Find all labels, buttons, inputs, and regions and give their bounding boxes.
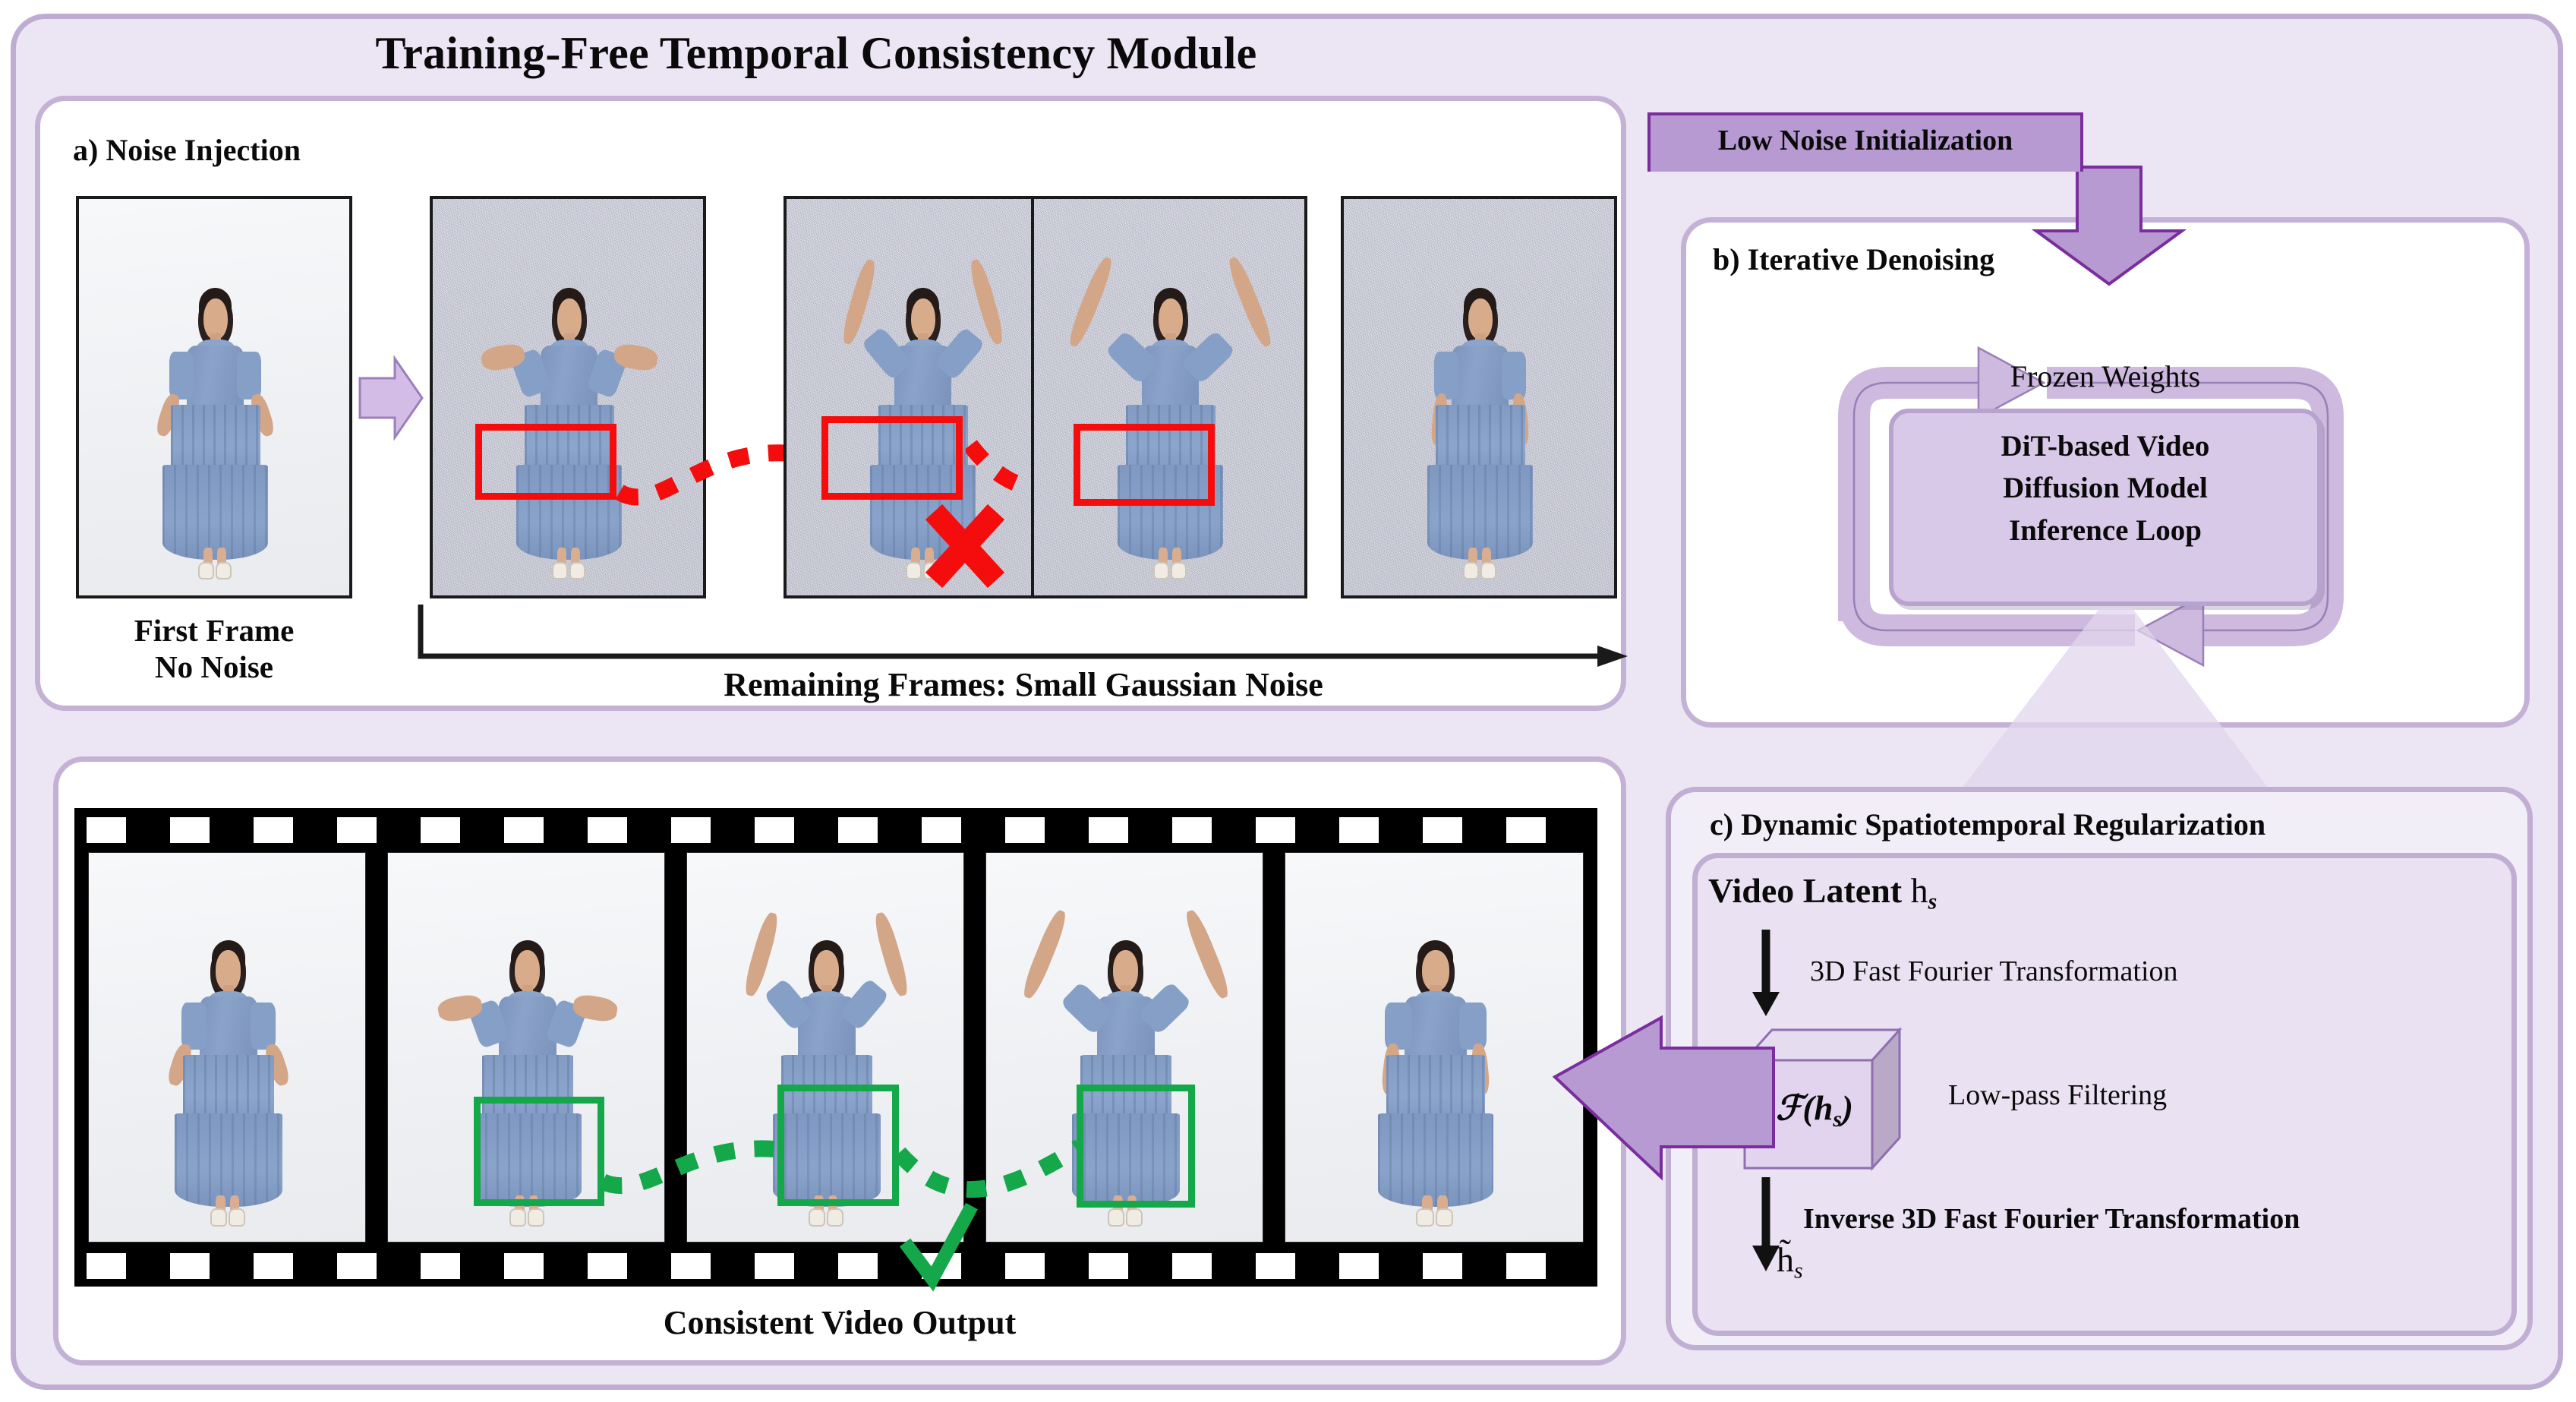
fft-step-label: 3D Fast Fourier Transformation xyxy=(1810,955,2178,988)
highlight-box-good-2 xyxy=(777,1085,899,1206)
panel-b-label: b) Iterative Denoising xyxy=(1713,242,1994,277)
panel-a-label: a) Noise Injection xyxy=(73,132,301,168)
first-frame-image xyxy=(76,196,352,598)
video-latent-text: Video Latent xyxy=(1708,871,1902,910)
output-caption: Consistent Video Output xyxy=(53,1303,1626,1342)
frozen-weights-label: Frozen Weights xyxy=(1681,358,2530,394)
video-latent-subscript: s xyxy=(1928,889,1938,914)
timeline-axis xyxy=(416,600,1631,668)
lowpass-step-label: Low-pass Filtering xyxy=(1948,1078,2167,1112)
highlight-box-bad-2 xyxy=(821,416,963,500)
highlight-box-bad-3 xyxy=(1074,424,1215,506)
inject-arrow-icon xyxy=(358,355,424,440)
timeline-caption: Remaining Frames: Small Gaussian Noise xyxy=(416,665,1631,705)
dit-model-label: DiT-based Video Diffusion Model Inferenc… xyxy=(1889,425,2322,551)
noisy-frame-3-image xyxy=(1031,196,1307,598)
cube-formula-close: ) xyxy=(1842,1089,1853,1127)
highlight-box-bad-1 xyxy=(475,424,616,500)
ifft-step-label: Inverse 3D Fast Fourier Transformation xyxy=(1803,1202,2300,1236)
noisy-frame-2-image xyxy=(784,196,1060,598)
first-frame-caption: First Frame No Noise xyxy=(76,612,352,686)
red-x-icon xyxy=(923,504,1007,588)
highlight-box-good-3 xyxy=(1077,1085,1195,1208)
highlight-box-good-1 xyxy=(474,1097,604,1206)
noisy-frame-4-image xyxy=(1341,196,1617,598)
green-check-icon xyxy=(897,1200,981,1299)
video-latent-symbol: h xyxy=(1911,871,1928,910)
sprocket-row-top xyxy=(74,808,1597,851)
cube-formula-sub: s xyxy=(1833,1107,1842,1132)
diagram-root: Training-Free Temporal Consistency Modul… xyxy=(0,0,2576,1402)
output-latent-symbol: h̃ xyxy=(1777,1240,1794,1279)
film-strip xyxy=(74,808,1597,1287)
output-latent-subscript: s xyxy=(1794,1258,1803,1283)
output-frame-1-image xyxy=(88,852,366,1243)
sprocket-row-bottom xyxy=(74,1244,1597,1287)
low-noise-init-label: Low Noise Initialization xyxy=(1647,124,2083,157)
video-latent-label: Video Latent hs xyxy=(1708,870,1937,914)
panel-c-label: c) Dynamic Spatiotemporal Regularization xyxy=(1710,807,2265,842)
cube-formula-main: ℱ(h xyxy=(1776,1089,1833,1127)
down-block-arrow-icon xyxy=(2004,166,2217,287)
output-latent-label: h̃s xyxy=(1777,1239,1803,1284)
page-title: Training-Free Temporal Consistency Modul… xyxy=(0,27,1632,80)
noisy-frame-1-image xyxy=(430,196,706,598)
b-to-c-funnel xyxy=(1956,608,2275,797)
output-frame-5-image xyxy=(1285,852,1584,1243)
left-block-arrow-icon xyxy=(1550,1004,1778,1194)
